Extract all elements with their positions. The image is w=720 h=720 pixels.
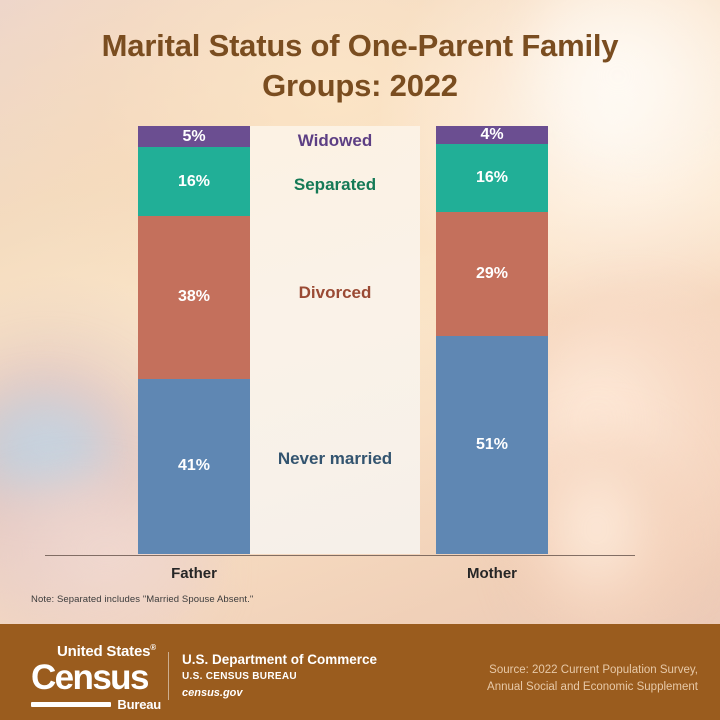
segment-father-never-married[interactable]: 41% [138,379,250,554]
segment-value: 38% [178,288,210,306]
segment-father-separated[interactable]: 16% [138,147,250,215]
segment-value: 16% [178,173,210,191]
segment-value: 29% [476,265,508,283]
legend-label-widowed[interactable]: Widowed [250,131,420,151]
infographic-canvas: Marital Status of One-Parent Family Grou… [0,0,720,720]
census-logo-bureau-row: Bureau [31,698,161,711]
department-name: U.S. Department of Commerce [182,651,377,669]
bar-father[interactable]: 5% 16% 38% 41% [138,126,250,554]
category-label-group: Widowed Separated Divorced Never married [250,126,420,554]
segment-value: 16% [476,169,508,187]
segment-value: 41% [178,457,210,475]
census-logo-united-states: United States® [57,644,161,659]
footer-divider [168,652,169,700]
census-logo[interactable]: United States® Census Bureau [31,644,161,711]
census-logo-rule [31,702,111,707]
source-citation: Source: 2022 Current Population Survey, … [487,662,698,695]
registered-mark-icon: ® [150,643,156,652]
segment-mother-separated[interactable]: 16% [436,144,548,212]
legend-label-never-married[interactable]: Never married [250,449,420,469]
segment-value: 4% [480,126,503,144]
segment-father-divorced[interactable]: 38% [138,216,250,379]
segment-value: 51% [476,436,508,454]
bar-mother[interactable]: 4% 16% 29% 51% [436,126,548,554]
census-logo-wordmark: Census [31,660,161,695]
department-block: U.S. Department of Commerce U.S. CENSUS … [182,651,377,702]
segment-mother-never-married[interactable]: 51% [436,336,548,554]
census-website-link[interactable]: census.gov [182,685,377,702]
legend-label-divorced[interactable]: Divorced [250,283,420,303]
census-logo-bureau: Bureau [117,698,161,711]
bureau-name: U.S. CENSUS BUREAU [182,669,377,685]
source-line-1: Source: 2022 Current Population Survey, [487,662,698,679]
page-title: Marital Status of One-Parent Family Grou… [0,26,720,105]
segment-father-widowed[interactable]: 5% [138,126,250,147]
segment-value: 5% [182,128,205,146]
legend-label-separated[interactable]: Separated [250,175,420,195]
segment-mother-widowed[interactable]: 4% [436,126,548,144]
footer-bar: United States® Census Bureau U.S. Depart… [0,624,720,720]
source-line-2: Annual Social and Economic Supplement [487,679,698,696]
segment-mother-divorced[interactable]: 29% [436,212,548,336]
chart-footnote: Note: Separated includes "Married Spouse… [31,594,253,605]
